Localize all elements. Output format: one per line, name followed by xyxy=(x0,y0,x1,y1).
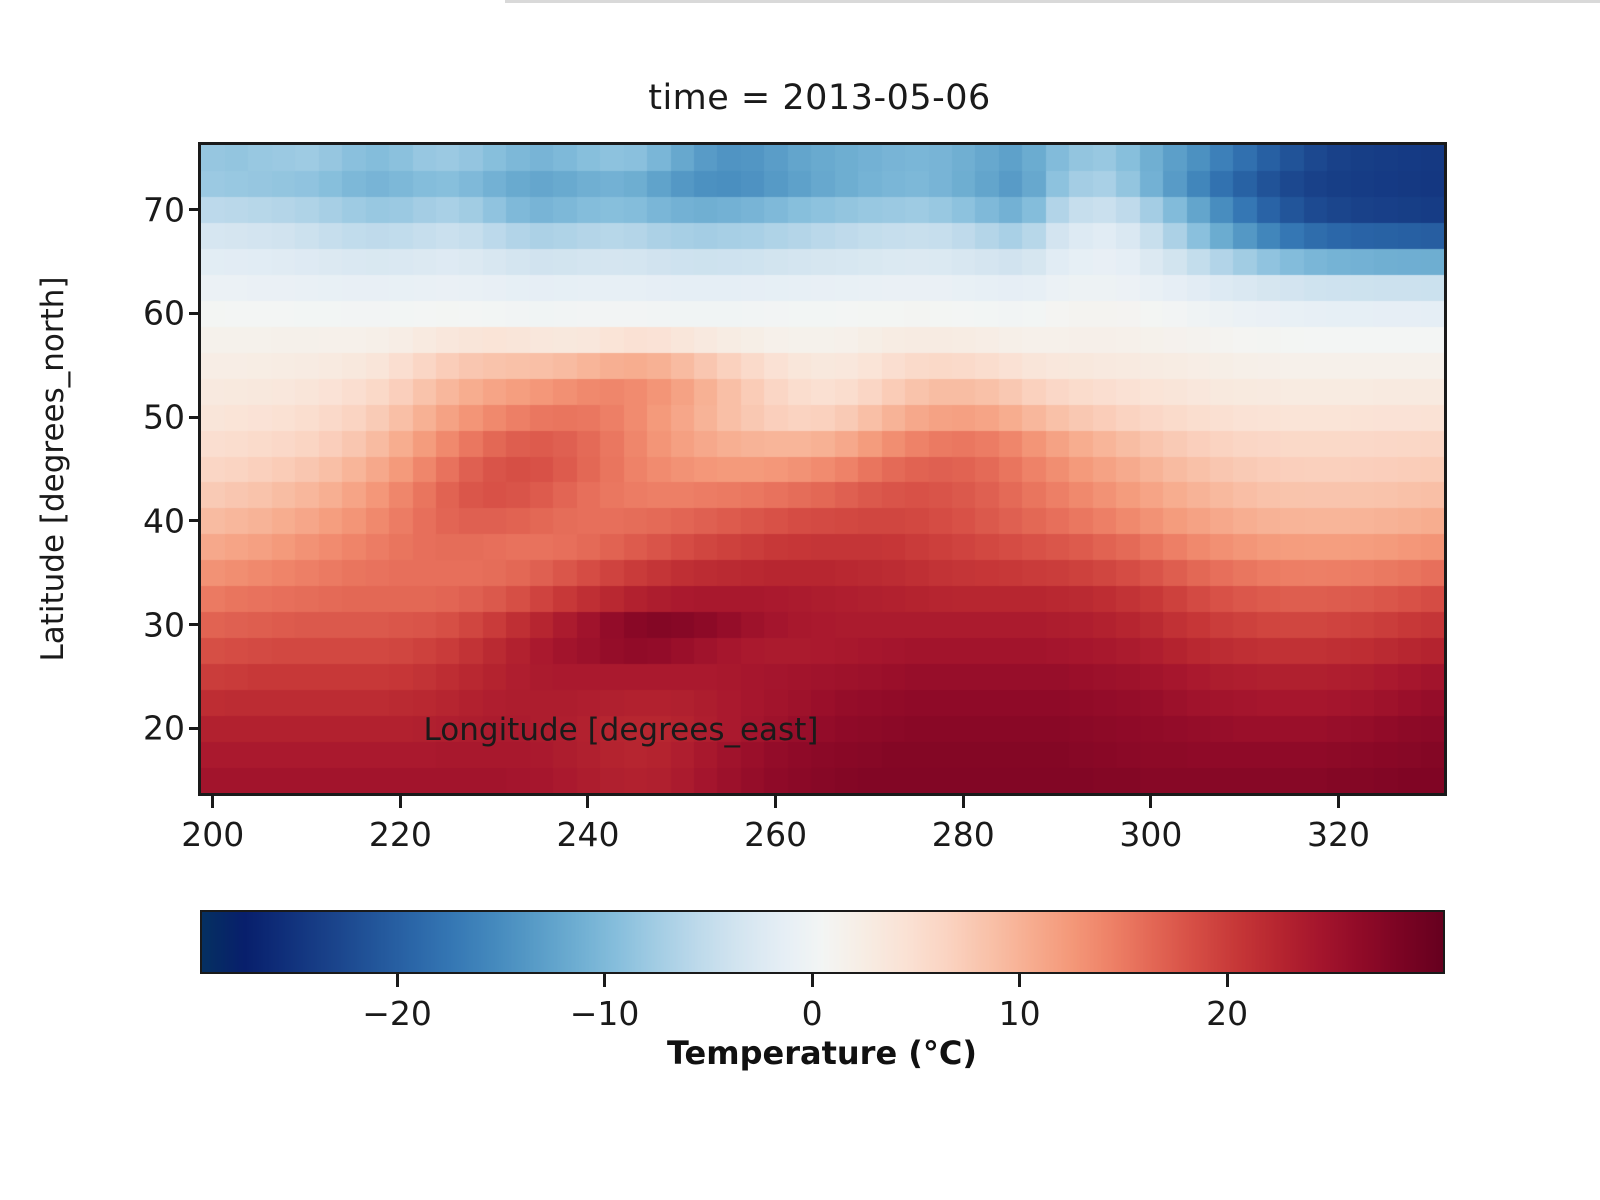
colorbar-tick-label: 10 xyxy=(999,994,1041,1033)
colorbar-tick-mark xyxy=(396,974,399,987)
colorbar-tick-mark xyxy=(1226,974,1229,987)
y-tick-label: 30 xyxy=(143,605,185,644)
y-tick-label: 60 xyxy=(143,294,185,333)
x-tick-mark xyxy=(586,796,589,808)
colorbar-label: Temperature (°C) xyxy=(667,1034,977,1072)
y-tick-mark xyxy=(189,727,201,730)
y-tick-label: 70 xyxy=(143,190,185,229)
x-tick-label: 260 xyxy=(744,815,807,854)
x-tick-mark xyxy=(211,796,214,808)
colorbar-tick-mark xyxy=(811,974,814,987)
x-tick-label: 200 xyxy=(181,815,244,854)
colorbar-gradient xyxy=(202,912,1443,972)
x-tick-mark xyxy=(399,796,402,808)
heatmap-image xyxy=(201,145,1444,793)
x-tick-mark xyxy=(962,796,965,808)
x-tick-mark xyxy=(1149,796,1152,808)
colorbar-tick-label: −10 xyxy=(570,994,640,1033)
x-tick-label: 240 xyxy=(556,815,619,854)
y-tick-label: 20 xyxy=(143,709,185,748)
y-tick-label: 50 xyxy=(143,398,185,437)
colorbar-tick-mark xyxy=(1018,974,1021,987)
y-tick-mark xyxy=(189,416,201,419)
heatmap-axes: 203040506070 200220240260280300320 Latit… xyxy=(198,142,1447,796)
colorbar: −20−1001020 Temperature (°C) xyxy=(200,910,1445,974)
figure-canvas: time = 2013-05-06 203040506070 200220240… xyxy=(0,0,1600,1200)
x-tick-label: 320 xyxy=(1307,815,1370,854)
y-tick-mark xyxy=(189,623,201,626)
x-tick-label: 220 xyxy=(369,815,432,854)
colorbar-tick-label: −20 xyxy=(362,994,432,1033)
y-tick-mark xyxy=(189,312,201,315)
x-axis-label: Longitude [degrees_east] xyxy=(424,712,819,748)
y-tick-label: 40 xyxy=(143,501,185,540)
page-title: time = 2013-05-06 xyxy=(198,78,1441,118)
x-tick-label: 300 xyxy=(1119,815,1182,854)
colorbar-tick-mark xyxy=(603,974,606,987)
y-tick-mark xyxy=(189,208,201,211)
window-edge-strip xyxy=(505,0,1600,3)
x-tick-label: 280 xyxy=(932,815,995,854)
colorbar-tick-label: 0 xyxy=(802,994,823,1033)
x-tick-mark xyxy=(1337,796,1340,808)
y-axis-label: Latitude [degrees_north] xyxy=(35,276,71,661)
x-tick-mark xyxy=(774,796,777,808)
colorbar-tick-label: 20 xyxy=(1206,994,1248,1033)
y-tick-mark xyxy=(189,519,201,522)
